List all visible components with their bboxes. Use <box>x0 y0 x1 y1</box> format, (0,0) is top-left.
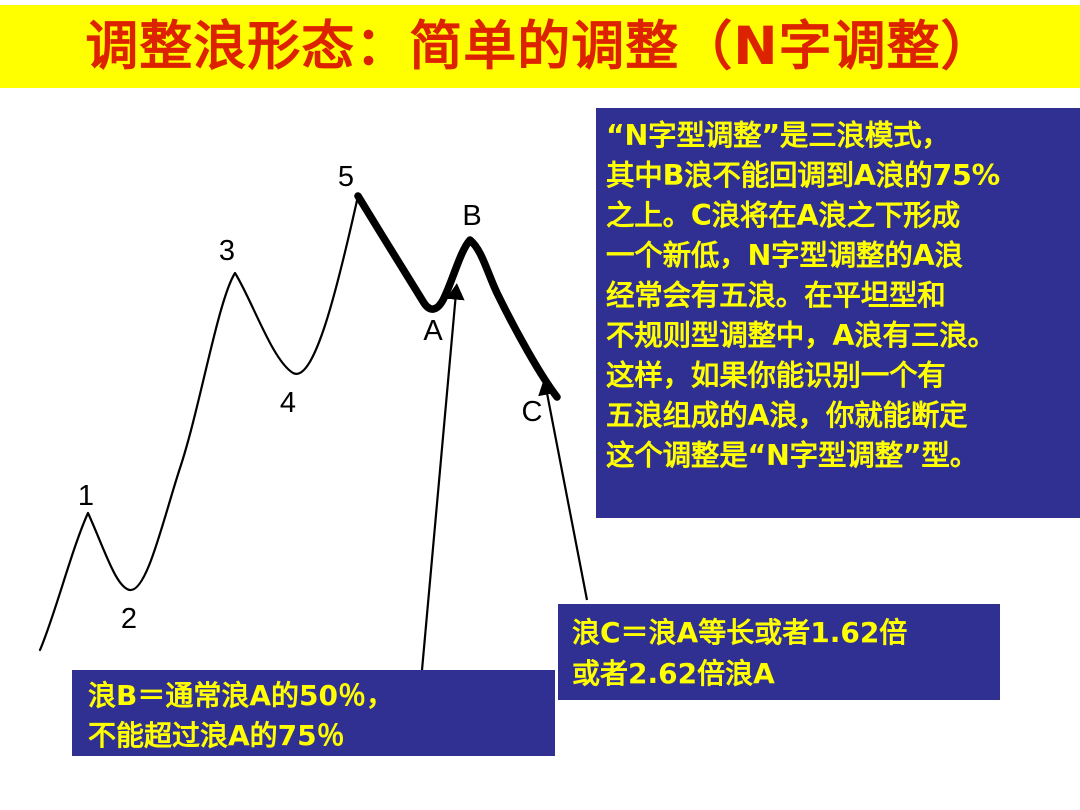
impulse-wave-path <box>40 196 358 650</box>
note-main-line-6: 不规则型调整中，A浪有三浪。 <box>606 316 1076 356</box>
note-main-line-7: 这样，如果你能识别一个有 <box>606 356 1076 396</box>
wave-label-4: 4 <box>280 387 296 419</box>
note-main-line-2: 其中B浪不能回调到A浪的75% <box>606 156 1076 196</box>
note-wave-c-line-2: 或者2.62倍浪A <box>572 653 1000 694</box>
note-wave-b-line-1: 浪B＝通常浪A的50％， <box>88 676 555 716</box>
wave-label-3: 3 <box>219 235 235 267</box>
arrow-to-wave-c <box>546 388 587 600</box>
note-main-line-4: 一个新低，N字型调整的A浪 <box>606 236 1076 276</box>
note-main-line-8: 五浪组成的A浪，你就能断定 <box>606 396 1076 436</box>
wave-label-2: 2 <box>121 603 137 635</box>
note-main-line-1: “N字型调整”是三浪模式， <box>606 116 1076 156</box>
note-box-wave-c-rule: 浪C＝浪A等长或者1.62倍 或者2.62倍浪A <box>558 604 1000 700</box>
arrow-to-wave-a <box>422 293 456 670</box>
note-main-line-5: 经常会有五浪。在平坦型和 <box>606 276 1076 316</box>
note-box-wave-b-rule: 浪B＝通常浪A的50％， 不能超过浪A的75％ <box>72 670 555 756</box>
note-wave-b-line-2: 不能超过浪A的75％ <box>88 716 555 756</box>
note-main-line-3: 之上。C浪将在A浪之下形成 <box>606 196 1076 236</box>
wave-label-c: C <box>522 396 543 428</box>
wave-label-a: A <box>423 315 443 347</box>
wave-label-b: B <box>462 200 481 232</box>
note-wave-c-line-1: 浪C＝浪A等长或者1.62倍 <box>572 612 1000 653</box>
note-box-main-explanation: “N字型调整”是三浪模式， 其中B浪不能回调到A浪的75% 之上。C浪将在A浪之… <box>596 108 1080 518</box>
wave-label-5: 5 <box>338 161 354 193</box>
wave-label-1: 1 <box>78 480 94 512</box>
note-main-line-9: 这个调整是“N字型调整”型。 <box>606 436 1076 476</box>
correction-wave-path <box>358 196 557 397</box>
